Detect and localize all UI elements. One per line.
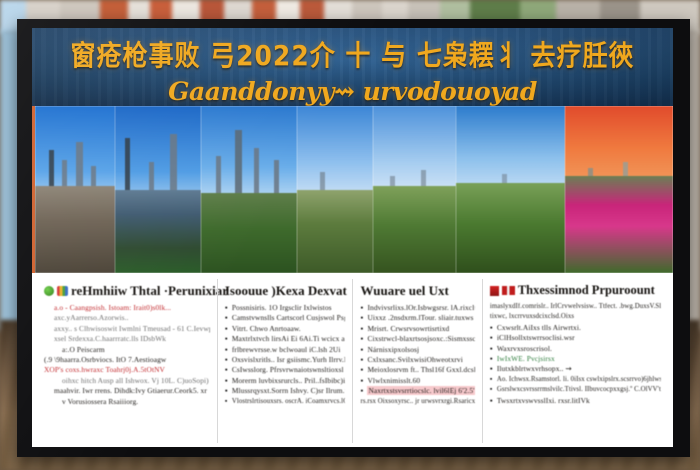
list-item-text: TwsxrtxvswvsslIxi. rxsr.litIVk — [497, 396, 590, 405]
list-item-text: Mrisrt. Crwsrvsowrtisrtixd — [367, 324, 449, 333]
list-item: ▪Naxrtxstsvsrrtiocslc. lvil6lEj 6'2.5'琥珀 — [360, 386, 474, 396]
list-item-text: Ao. Ichwsx.Rsamstorl. li. 0iIsx cswlxips… — [497, 376, 661, 383]
list-item: ▪Mrisrt. Crwsrvsowrtisrtixd — [360, 324, 474, 334]
bullet-icon: ▪ — [490, 333, 497, 343]
list-item-text: Indvivsrlixs.lOr.Isbwgsrsr. lA.rixclussr… — [367, 303, 474, 312]
list-item: ▪Gsrslwxcsvrssrrmslvilc.Ttivsl. IIbuvcoc… — [490, 385, 661, 395]
column-4-heading: Thxessimnod Prpuroount — [490, 283, 661, 298]
list-item: ▪Ao. Ichwsx.Rsamstorl. li. 0iIsx cswlxip… — [490, 375, 661, 385]
list-item: ▪Waxrvxsroscrisol. — [490, 344, 661, 354]
building-shape — [254, 148, 259, 196]
photo-ground — [456, 183, 564, 273]
bullet-icon: ▪ — [490, 364, 497, 374]
list-item-text: Mlussrqysxt.Sorrn Ishvy. C)sr Ilrum.tItt — [232, 386, 346, 395]
red-flag-icon — [502, 286, 515, 295]
list-item-text: Vlostrslrtisouxsrs. oscrA. iCoamxrvcs.lO… — [232, 398, 346, 405]
bullet-icon: ▪ — [225, 313, 232, 323]
list-item-text: Cxwsrlt.AiIxs tlls Airwrtxi. — [497, 323, 581, 332]
list-item: (.9 \9haarra.Osrbviocs. ItO 7.Aestioagw — [44, 355, 210, 365]
list-item: XOP's coxs.hwraxc Toahrj0j.A.5tOtNV — [44, 365, 210, 375]
building-shape — [125, 138, 130, 196]
collage-photo-terraced-park — [456, 106, 564, 273]
photo-sky — [297, 106, 374, 200]
list-item: ▪Vitrt. Chwo Anrtoaaw. — [225, 324, 346, 334]
bullet-icon: ▪ — [225, 376, 232, 386]
list-item-text: Cixstrwcl-blaxrtsosjsoxc.:Sismxsscsr — [367, 334, 474, 343]
photo-ground — [565, 176, 673, 273]
content-column-1: reHmhiiw Thtal ·Perunixiar a.o - Caangps… — [37, 279, 217, 443]
content-column-4: Thxessimnod Prpuroount imaslyxdIf.comris… — [482, 279, 668, 443]
rainbow-badge-icon — [57, 286, 68, 296]
list-item-text: Morerm luvbixsrurcls.. Pril..fsIbibc)ich… — [232, 376, 346, 385]
column-2-heading: Isoouue )Kexa Dexvat — [225, 283, 346, 299]
list-item-text-highlighted: Naxrtxstsvsrrtiocslc. lvil6lEj 6'2.5'琥珀 — [367, 386, 474, 395]
poster-body: 窗疮枪事败 弓2022介 十 与 七枭䎬丬 去疗䏕㣣 Gaanddonyy⇝ u… — [32, 28, 673, 447]
column-3-heading: Wuuare uel Uxt — [360, 283, 474, 299]
list-item-text: Possnisiris. 1O Irgsclir Ixlwistos — [232, 303, 332, 312]
list-item: ▪iClHsollxtswrrsoclisi.wsr — [490, 333, 661, 343]
list-item-text: CsIwsslorg. Pfrsvrwnaiotswnsltioxsl — [232, 365, 344, 374]
photo-ground — [373, 186, 456, 273]
bullet-icon: ▪ — [225, 386, 232, 396]
list-item-text: Gsrslwxcsvrssrrmslvilc.Ttivsl. IIbuvcocp… — [497, 386, 661, 393]
green-dot-icon — [44, 286, 54, 296]
list-item: xsel Srdexxa.C.haarrratc.lls IDsbWk — [44, 334, 210, 344]
list-item: ▪Morerm luvbixsrurcls.. Pril..fsIbibc)ic… — [225, 376, 346, 386]
bullet-icon: ▪ — [225, 397, 232, 407]
list-item: axxy.. s Clhwisoswit Iwmlni Tmeusad - 61… — [44, 324, 210, 334]
paragraph-line: imaslyxdIf.comrislr.. IrlCrvwelvsisw.. T… — [490, 302, 661, 312]
photo-ground — [115, 190, 201, 274]
list-item-text: Waxrvxsroscrisol. — [497, 344, 552, 353]
list-item-text: Uixxz .2nsdxrm.lTour. sliair.tuxws — [367, 313, 473, 322]
list-item: ▪Uixxz .2nsdxrm.lTour. sliair.tuxws — [360, 313, 474, 323]
list-item: ▪Cxwsrlt.AiIxs tlls Airwrtxi. — [490, 323, 661, 333]
list-item: ▪IwIxWE. Pvcjsirsx — [490, 354, 661, 364]
list-item: ▪Meioxlosrvm ft.. Thsl16f Gxxl.dcslrs.lW… — [360, 365, 474, 375]
collage-photo-sunset-flower-garden — [565, 106, 673, 273]
bullet-icon: ▪ — [490, 385, 497, 395]
column-4-heading-text: Thxessimnod Prpuroount — [518, 283, 655, 298]
bullet-icon: ▪ — [225, 345, 232, 355]
list-item-text: Cxlxsanc.SvilxwisiOhweotxrvi — [367, 355, 462, 364]
list-item: a:.O Peiscarm — [44, 345, 210, 355]
list-item: ▪Cixstrwcl-blaxrtsosjsoxc.:Sismxsscsr — [360, 334, 474, 344]
list-item-text: Nárnisxipxolsosj — [367, 345, 419, 354]
list-item: ▪Possnisiris. 1O Irgsclir Ixlwistos — [225, 303, 346, 313]
list-item: ▪Oxsvislxritls.. Isr gsiismc.Yurh Ilrrv.… — [225, 355, 346, 365]
list-item-text: iClHsollxtswrrsoclisi.wsr — [497, 333, 575, 342]
list-item-text: Vlwlxnimisslt.60 — [367, 376, 420, 385]
list-item: ▪Mlussrqysxt.Sorrn Ishvy. C)sr Ilrum.tIt… — [225, 386, 346, 396]
bullet-icon: ▪ — [225, 365, 232, 375]
list-item-text: Vitrt. Chwo Anrtoaaw. — [232, 324, 301, 333]
bullet-icon: ▪ — [225, 355, 232, 365]
list-item: ▪Cxlxsanc.SvilxwisiOhweotxrvi — [360, 355, 474, 365]
list-item: ▪CsIwsslorg. Pfrsvrwnaiotswnsltioxsl — [225, 365, 346, 375]
photo-ground — [201, 193, 297, 273]
bullet-icon: ▪ — [490, 354, 497, 364]
list-item: ▪Ilutxkblrtwxvrhsopx.. ⇝ — [490, 364, 661, 374]
content-column-3: Wuuare uel Uxt ▪Indvivsrlixs.lOr.Isbwgsr… — [352, 279, 481, 443]
collage-photo-hillside-housing — [373, 106, 456, 273]
bullet-icon: ▪ — [490, 396, 497, 406]
banner-title-line2: Gaanddonyy⇝ urvodouoyad — [32, 77, 673, 106]
collage-photo-river-bridge-cityscape — [115, 106, 201, 273]
list-item: ▪Camstvwnslls Cartscorl Cusjswol Psgiewn… — [225, 313, 346, 323]
bullet-icon: ▪ — [225, 303, 232, 313]
column-3-heading-text: Wuuare uel Uxt — [360, 283, 448, 299]
list-item: ▪frlbrewvrsse.w bclwoaul iC.lsh 2Ui — [225, 345, 346, 355]
column-2-heading-text: Isoouue )Kexa Dexvat — [225, 283, 347, 299]
list-item-text: Ilutxkblrtwxvrhsopx.. ⇝ — [497, 364, 572, 373]
banner-title-line1: 窗疮枪事败 弓2022介 十 与 七枭䎬丬 去疗䏕㣣 — [32, 34, 673, 74]
list-item: oihxc hitch Ausp all Ishwox. Vj 10L. C)u… — [44, 376, 210, 386]
collage-photo-coastal-city-skyline — [35, 106, 115, 273]
column-1-heading-text: reHmhiiw Thtal ·Perunixiar — [71, 283, 228, 299]
building-shape — [235, 130, 242, 196]
list-item: rs.rsx Oixsoxyrsc.. jr urwsvrxrgi.Rsaric… — [360, 397, 474, 407]
poster-frame: 窗疮枪事败 弓2022介 十 与 七枭䎬丬 去疗䏕㣣 Gaanddonyy⇝ u… — [17, 19, 690, 457]
list-item-text: IwIxWE. Pvcjsirsx — [497, 354, 555, 363]
list-item-text: Maxtrlxtvch lirsAi Ei 6Ai.Ti wcicx astso… — [232, 334, 346, 343]
building-shape — [170, 134, 177, 196]
list-item: ▪Nárnisxipxolsosj — [360, 345, 474, 355]
content-column-2: Isoouue )Kexa Dexvat ▪Possnisiris. 1O Ir… — [217, 279, 353, 443]
poster-banner: 窗疮枪事败 弓2022介 十 与 七枭䎬丬 去疗䏕㣣 Gaanddonyy⇝ u… — [32, 28, 673, 106]
red-bar-icon — [490, 286, 499, 296]
list-item-text: Oxsvislxritls.. Isr gsiismc.Yurh Ilrrv.E… — [232, 355, 346, 364]
list-item: ▪Indvivsrlixs.lOr.Isbwgsrsr. lA.rixcluss… — [360, 303, 474, 313]
list-item: v Vorusiossera Rsaiiiorg. — [44, 397, 210, 407]
list-item: maahvir. Iwr rrens. Dihdk:Ivy Gtiaerur.C… — [44, 386, 210, 396]
photo-ground — [35, 186, 115, 273]
list-item-text: frlbrewvrsse.w bclwoaul iC.lsh 2Ui — [232, 345, 341, 354]
photo-ground — [297, 190, 374, 274]
list-item-text: Meioxlosrvm ft.. Thsl16f Gxxl.dcslrs.lWa… — [367, 365, 474, 374]
list-item: ▪Maxtrlxtvch lirsAi Ei 6Ai.Ti wcicx asts… — [225, 334, 346, 344]
bullet-icon: ▪ — [490, 344, 497, 354]
building-shape — [274, 160, 279, 196]
paragraph-line: tixwc, lxcrrvuxsdcixclsd.Oixs — [490, 312, 661, 322]
list-item: ▪TwsxrtxvswvsslIxi. rxsr.litIVk — [490, 396, 661, 406]
list-item: ▪Vlwlxnimisslt.60 — [360, 376, 474, 386]
list-item-text: Camstvwnslls Cartscorl Cusjswol Psgiewni… — [232, 313, 346, 322]
bullet-icon: ▪ — [490, 375, 497, 385]
collage-photo-riverside-greenbelt — [297, 106, 374, 273]
building-shape — [216, 156, 221, 196]
bullet-icon: ▪ — [225, 334, 232, 344]
list-item: a.o - Caangpsish. Istoam: Irait0)s0lk... — [44, 303, 210, 313]
content-panel: reHmhiiw Thtal ·Perunixiar a.o - Caangps… — [32, 273, 673, 447]
column-1-heading: reHmhiiw Thtal ·Perunixiar — [44, 283, 210, 299]
collage-photo-highrise-district — [201, 106, 297, 273]
bullet-icon: ▪ — [225, 324, 232, 334]
list-item: axc.yAarrerso.Azorwis.. — [44, 313, 210, 323]
photo-collage-strip — [32, 106, 673, 273]
bullet-icon: ▪ — [490, 323, 497, 333]
list-item: ▪Vlostrslrtisouxsrs. oscrA. iCoamxrvcs.l… — [225, 397, 346, 407]
